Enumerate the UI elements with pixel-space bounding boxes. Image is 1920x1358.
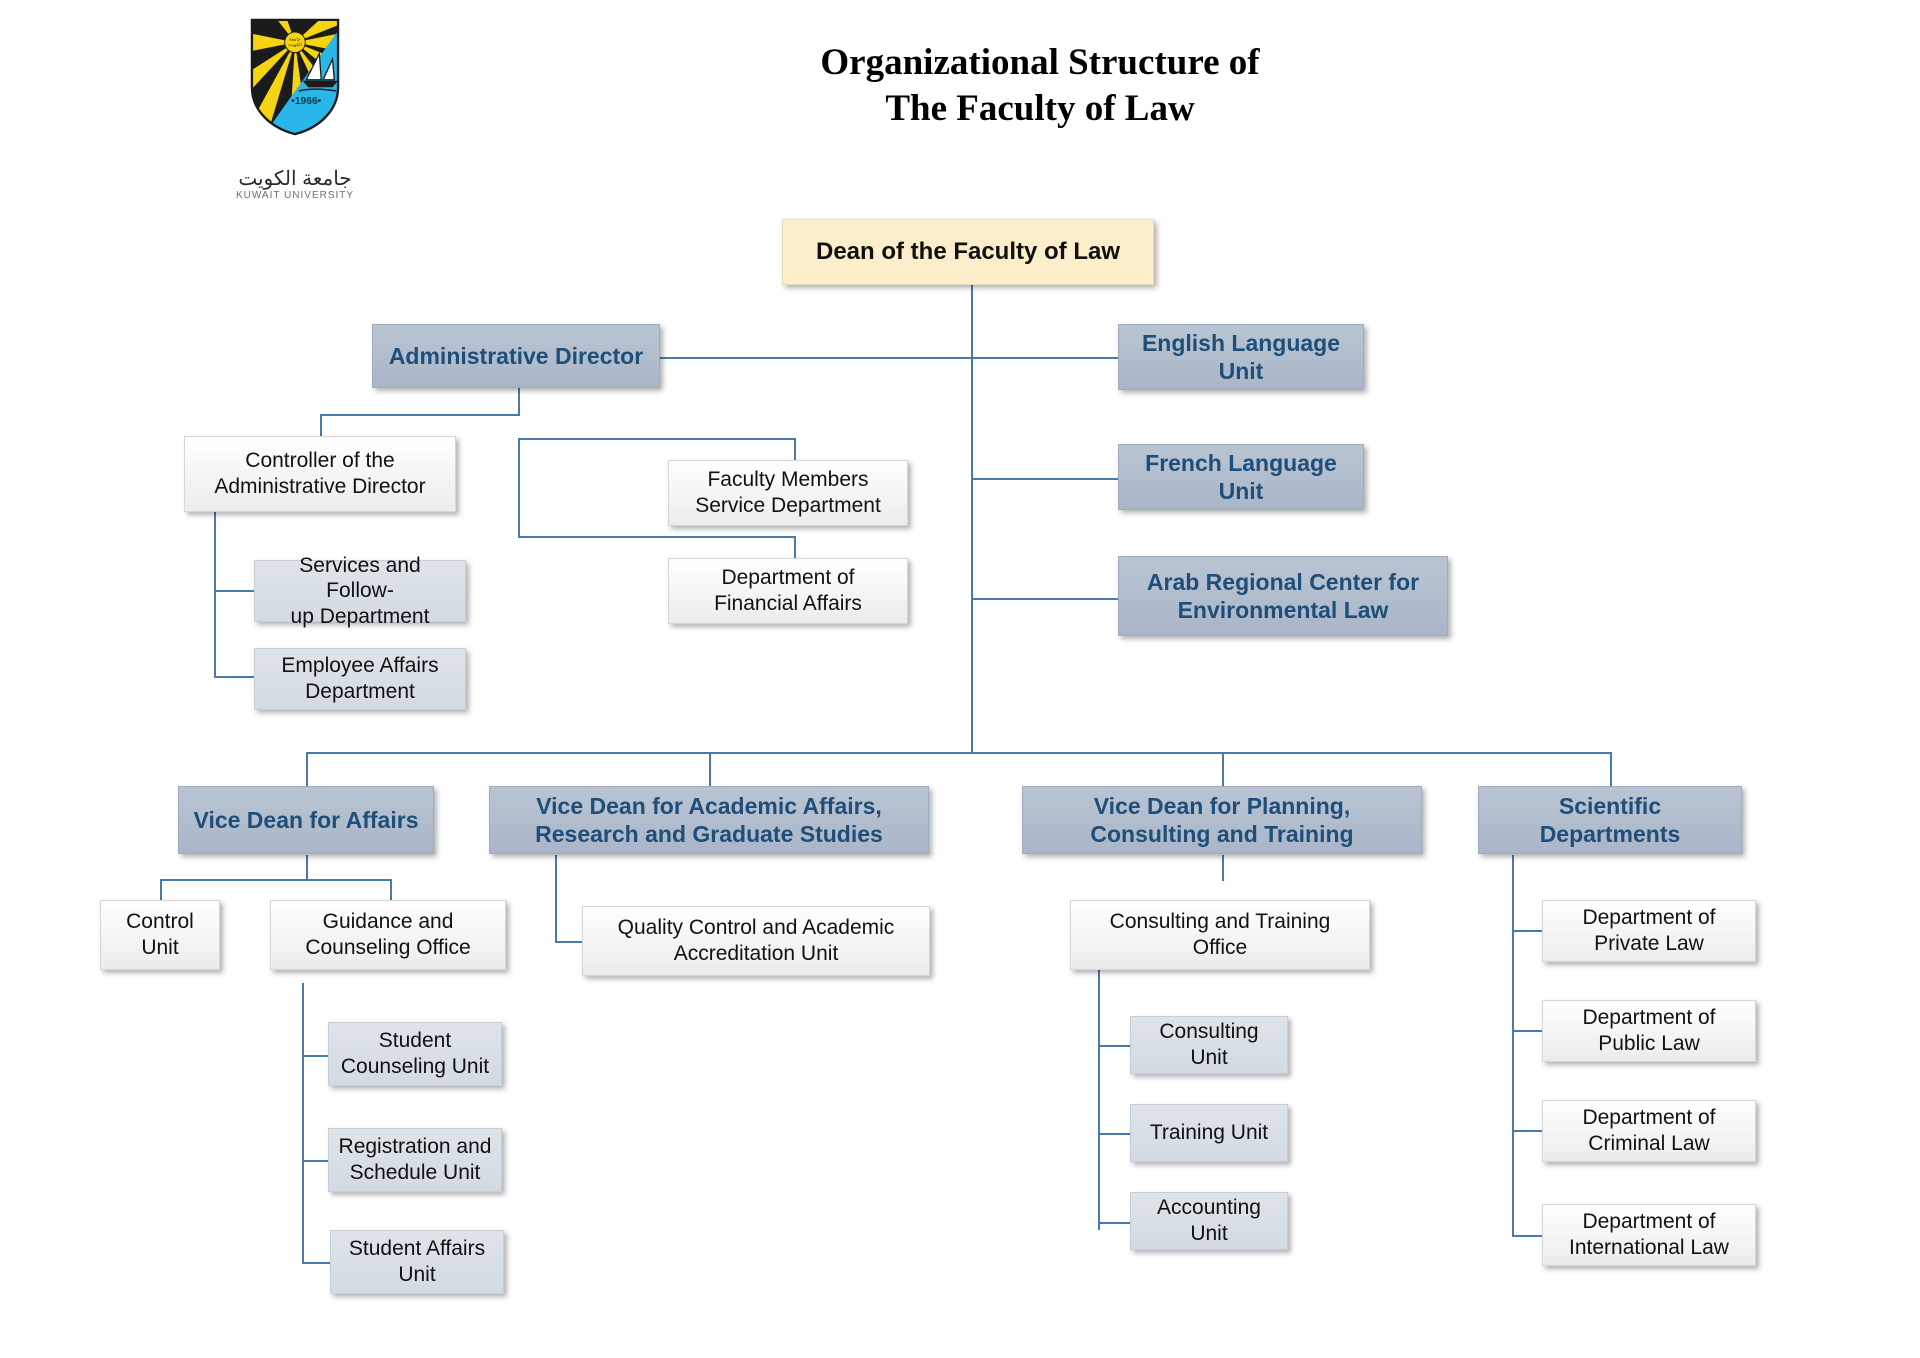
connector-academic-to-quality-control — [555, 941, 583, 943]
connector-controller-spine — [214, 512, 216, 678]
connector-vicedean-affairs-stem — [306, 855, 308, 881]
node-english-language-unit[interactable]: English Language Unit — [1118, 324, 1364, 390]
node-scientific-departments[interactable]: Scientific Departments — [1478, 786, 1742, 854]
connector-scientific-to-private-law — [1512, 930, 1542, 932]
connector-admin-to-financial — [518, 536, 794, 538]
connector-scientific-to-international-law — [1512, 1235, 1542, 1237]
node-arab-regional-center[interactable]: Arab Regional Center for Environmental L… — [1118, 556, 1448, 636]
connector-bus-to-vicedean-affairs — [306, 752, 308, 786]
logo-arabic-name: جامعة الكويت — [220, 166, 370, 191]
connector-scientific-to-criminal-law — [1512, 1130, 1542, 1132]
connector-to-guidance-office — [390, 879, 392, 901]
logo-english-name: KUWAIT UNIVERSITY — [220, 190, 370, 201]
node-faculty-members-service-department[interactable]: Faculty Members Service Department — [668, 460, 908, 526]
connector-to-control-unit — [160, 879, 162, 901]
node-control-unit[interactable]: Control Unit — [100, 900, 220, 970]
node-vice-dean-for-academic-affairs[interactable]: Vice Dean for Academic Affairs, Research… — [489, 786, 929, 854]
connector-dean-to-arab-center — [971, 598, 1119, 600]
node-training-unit[interactable]: Training Unit — [1130, 1104, 1288, 1162]
connector-office-to-accounting-unit — [1098, 1222, 1130, 1224]
connector-office-to-consulting-unit — [1098, 1045, 1130, 1047]
page-title: Organizational Structure of The Faculty … — [660, 40, 1420, 133]
connector-controller-to-services — [214, 590, 254, 592]
node-vice-dean-for-affairs[interactable]: Vice Dean for Affairs — [178, 786, 434, 854]
node-student-counseling-unit[interactable]: Student Counseling Unit — [328, 1022, 502, 1086]
connector-admin-to-faculty-service — [794, 438, 796, 460]
connector-vicedean-bus — [306, 752, 1610, 754]
connector-guidance-to-student-counseling — [302, 1055, 330, 1057]
connector-dean-to-admin-director — [660, 357, 972, 359]
connector-bus-to-vicedean-academic — [709, 752, 711, 786]
node-administrative-director[interactable]: Administrative Director — [372, 324, 660, 388]
connector-scientific-to-public-law — [1512, 1030, 1542, 1032]
connector-office-to-training-unit — [1098, 1133, 1130, 1135]
node-employee-affairs-department[interactable]: Employee Affairs Department — [254, 648, 466, 710]
node-department-of-financial-affairs[interactable]: Department of Financial Affairs — [668, 558, 908, 624]
node-consulting-unit[interactable]: Consulting Unit — [1130, 1016, 1288, 1074]
connector-consulting-office-spine — [1098, 970, 1100, 1230]
node-student-affairs-unit[interactable]: Student Affairs Unit — [330, 1230, 504, 1294]
connector-admin-bus-right — [518, 438, 796, 440]
connector-dean-spine — [971, 284, 973, 754]
connector-vicedean-academic-stem — [555, 855, 557, 943]
connector-vicedean-planning-stem — [1222, 855, 1224, 881]
university-shield-icon: •1966• جامعة الكويت — [248, 18, 342, 136]
node-guidance-and-counseling-office[interactable]: Guidance and Counseling Office — [270, 900, 506, 970]
node-department-of-private-law[interactable]: Department of Private Law — [1542, 900, 1756, 962]
connector-dean-to-english-unit — [971, 357, 1119, 359]
connector-admin-director-stem — [518, 388, 520, 416]
node-accounting-unit[interactable]: Accounting Unit — [1130, 1192, 1288, 1250]
node-consulting-and-training-office[interactable]: Consulting and Training Office — [1070, 900, 1370, 970]
node-controller-of-admin-director[interactable]: Controller of the Administrative Directo… — [184, 436, 456, 512]
node-department-of-public-law[interactable]: Department of Public Law — [1542, 1000, 1756, 1062]
node-department-of-international-law[interactable]: Department of International Law — [1542, 1204, 1756, 1266]
connector-dean-to-french-unit — [971, 478, 1119, 480]
node-dean[interactable]: Dean of the Faculty of Law — [782, 219, 1154, 285]
svg-text:•1966•: •1966• — [291, 96, 322, 107]
node-french-language-unit[interactable]: French Language Unit — [1118, 444, 1364, 510]
node-quality-control-and-accreditation-unit[interactable]: Quality Control and Academic Accreditati… — [582, 906, 930, 976]
org-chart-canvas: •1966• جامعة الكويت جامعة الكويت KUWAIT … — [0, 0, 1920, 1358]
node-vice-dean-for-planning[interactable]: Vice Dean for Planning, Consulting and T… — [1022, 786, 1422, 854]
connector-admin-bus-left — [320, 414, 520, 416]
connector-controller-to-employee-affairs — [214, 676, 254, 678]
connector-admin-to-controller — [320, 414, 322, 436]
connector-guidance-to-registration — [302, 1160, 330, 1162]
kuwait-university-logo: •1966• جامعة الكويت جامعة الكويت KUWAIT … — [240, 18, 350, 183]
connector-bus-to-scientific-departments — [1610, 752, 1612, 786]
node-services-and-followup-department[interactable]: Services and Follow- up Department — [254, 560, 466, 622]
connector-admin-down-financial — [518, 438, 520, 538]
node-registration-and-schedule-unit[interactable]: Registration and Schedule Unit — [328, 1128, 502, 1192]
connector-bus-to-vicedean-planning — [1222, 752, 1224, 786]
connector-guidance-to-student-affairs — [302, 1262, 330, 1264]
connector-guidance-spine — [302, 983, 304, 1263]
svg-text:جامعة: جامعة — [289, 36, 301, 41]
connector-financial-stem — [794, 536, 796, 558]
node-department-of-criminal-law[interactable]: Department of Criminal Law — [1542, 1100, 1756, 1162]
connector-vicedean-affairs-bus — [160, 879, 392, 881]
connector-scientific-spine — [1512, 855, 1514, 1235]
